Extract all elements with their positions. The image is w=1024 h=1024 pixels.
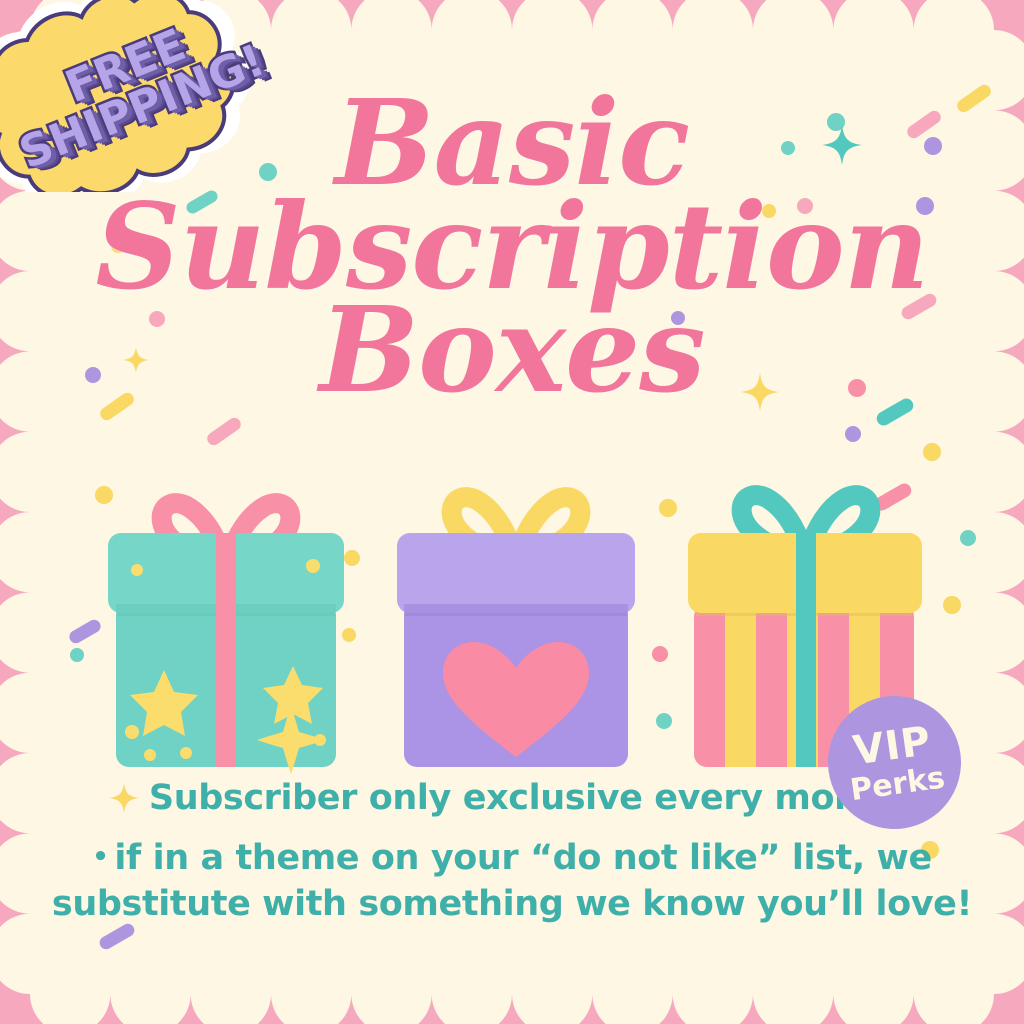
benefit-line-2-text: if in a theme on your “do not like” list… — [114, 838, 931, 878]
benefit-line-1-text: Subscriber only exclusive every month! — [149, 778, 915, 818]
gift-lid — [397, 533, 635, 613]
ribbon-vertical — [796, 533, 816, 767]
gift-box-lavender — [397, 497, 635, 767]
ribbon-vertical — [216, 533, 236, 767]
sparkle-icon — [109, 782, 139, 822]
sticker-burst-shape — [0, 0, 284, 192]
free-shipping-sticker[interactable]: FREE SHIPPING! — [0, 0, 284, 192]
benefit-line-3: substitute with something we know you’ll… — [46, 884, 978, 924]
bullet-icon: • — [92, 842, 108, 872]
benefit-line-2: •if in a theme on your “do not like” lis… — [46, 838, 978, 878]
poster-canvas: Basic Subscription Boxes — [0, 0, 1024, 1024]
gift-box-teal — [108, 503, 344, 774]
benefits-copy: Subscriber only exclusive every month! •… — [46, 778, 978, 924]
